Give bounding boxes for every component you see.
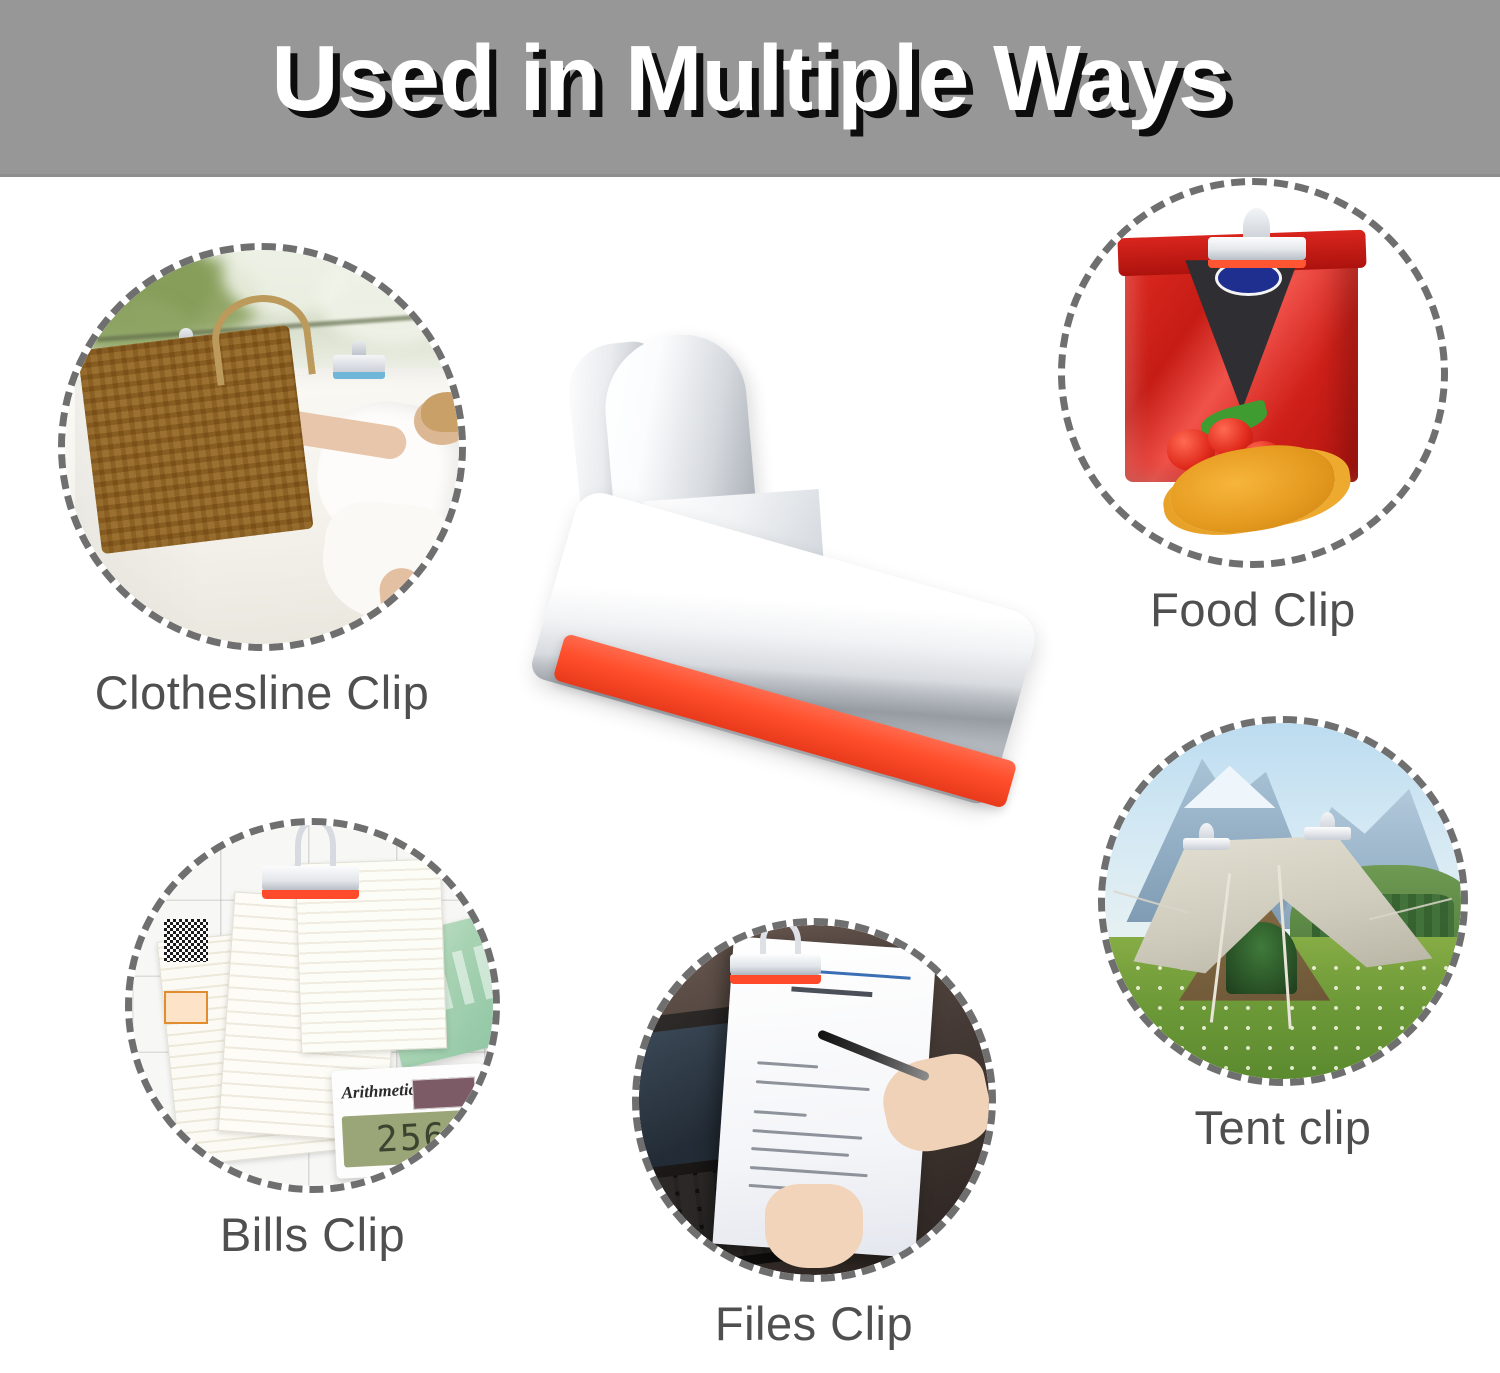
feature-circle-clothesline <box>58 243 466 651</box>
feature-label-tent: Tent clip <box>1098 1100 1468 1155</box>
feature-clothesline: Clothesline Clip <box>58 243 466 720</box>
clothesline-clip-icon <box>333 341 385 379</box>
page-title: Used in Multiple Ways <box>0 30 1500 128</box>
calculator: Arithmetic 2560 <box>331 1063 488 1179</box>
feature-image-bills: Arithmetic 2560 <box>132 825 493 1186</box>
feature-image-clothesline <box>65 250 459 644</box>
files-clip-icon <box>730 925 821 988</box>
feature-image-tent <box>1105 723 1461 1079</box>
feature-label-food: Food Clip <box>1058 582 1448 637</box>
feature-label-bills: Bills Clip <box>125 1207 500 1262</box>
feature-circle-food <box>1058 178 1448 568</box>
foliage <box>317 250 459 345</box>
child-figure <box>426 548 459 634</box>
feature-image-files <box>639 925 989 1275</box>
tent-clip-icon <box>1304 812 1350 848</box>
hand-holding-page <box>765 1184 863 1268</box>
feature-label-files: Files Clip <box>632 1296 996 1351</box>
feature-circle-tent <box>1098 716 1468 1086</box>
feature-files: Files Clip <box>632 918 996 1351</box>
qr-code-icon <box>164 919 207 962</box>
calculator-display: 2560 <box>341 1109 480 1168</box>
calculator-display-value: 2560 <box>375 1114 480 1160</box>
header-banner: Used in Multiple Ways <box>0 0 1500 177</box>
hero-product-chip-clip <box>528 335 1048 845</box>
feature-circle-files <box>632 918 996 1282</box>
feature-image-food <box>1065 185 1441 561</box>
solar-panel <box>412 1076 476 1109</box>
feature-bills: Arithmetic 2560 Bills Clip <box>125 818 500 1262</box>
feature-food: Food Clip <box>1058 178 1448 637</box>
stamp <box>164 991 208 1024</box>
wicker-basket <box>77 324 313 553</box>
calculator-brand: Arithmetic <box>341 1080 417 1104</box>
feature-label-clothesline: Clothesline Clip <box>58 665 466 720</box>
bills-clip-icon <box>262 825 359 904</box>
infographic-page: Used in Multiple Ways <box>0 0 1500 1373</box>
food-clip-icon <box>1208 208 1306 276</box>
tent-clip-icon <box>1183 823 1229 859</box>
feature-tent: Tent clip <box>1098 716 1468 1155</box>
feature-circle-bills: Arithmetic 2560 <box>125 818 500 1193</box>
